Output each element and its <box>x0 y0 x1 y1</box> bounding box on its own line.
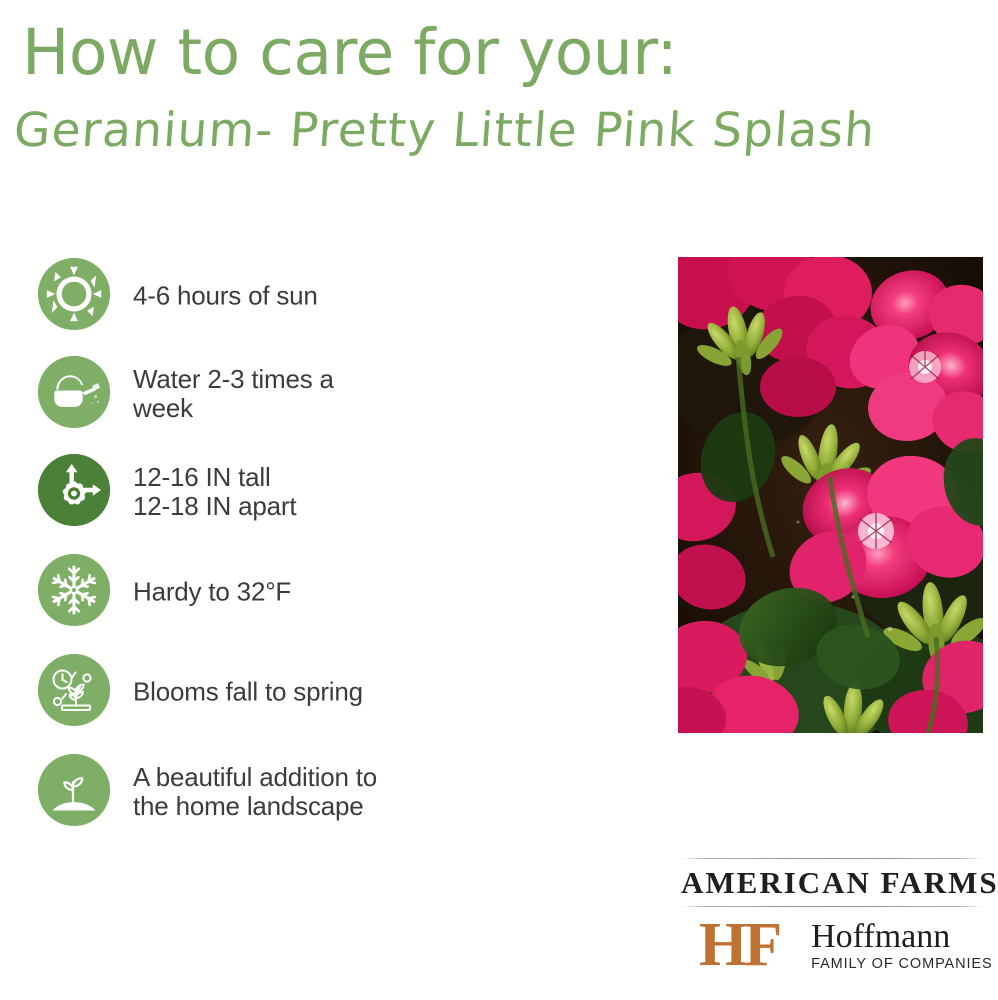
logo-block: AMERICAN FARMS HF Hoffmann FAMILY OF COM… <box>681 858 983 976</box>
brand-name: AMERICAN FARMS <box>681 859 983 906</box>
care-row-watering: Water 2-3 times a week <box>38 356 508 432</box>
care-text-bloom-season: Blooms fall to spring <box>133 678 363 707</box>
plant-photo <box>678 257 983 733</box>
care-row-hardiness: Hardy to 32°F <box>38 554 508 630</box>
page-title: How to care for your: <box>22 18 677 88</box>
care-row-spacing: 12-16 IN tall 12-18 IN apart <box>38 454 508 530</box>
care-row-landscape: A beautiful addition to the home landsca… <box>38 754 508 830</box>
care-row-sunlight: 4-6 hours of sun <box>38 258 508 334</box>
sun-icon <box>38 258 110 330</box>
care-text-watering: Water 2-3 times a week <box>133 365 334 423</box>
care-text-sunlight: 4-6 hours of sun <box>133 282 318 311</box>
plant-spacing-icon <box>38 454 110 526</box>
hf-monogram: HF <box>681 914 793 976</box>
plant-name-subtitle: Geranium- Pretty Little Pink Splash <box>12 100 878 162</box>
care-text-landscape: A beautiful addition to the home landsca… <box>133 763 377 821</box>
seedling-icon <box>38 754 110 826</box>
care-text-hardiness: Hardy to 32°F <box>133 578 291 607</box>
care-text-spacing: 12-16 IN tall 12-18 IN apart <box>133 463 296 521</box>
snowflake-icon <box>38 554 110 626</box>
parent-company-tagline: FAMILY OF COMPANIES <box>811 955 992 973</box>
parent-company-lockup: HF Hoffmann FAMILY OF COMPANIES <box>681 907 983 976</box>
watering-can-icon <box>38 356 110 428</box>
bloom-season-icon <box>38 654 110 726</box>
parent-company-name: Hoffmann <box>811 919 992 955</box>
care-row-bloom-season: Blooms fall to spring <box>38 654 508 730</box>
parent-company-text: Hoffmann FAMILY OF COMPANIES <box>811 917 992 973</box>
